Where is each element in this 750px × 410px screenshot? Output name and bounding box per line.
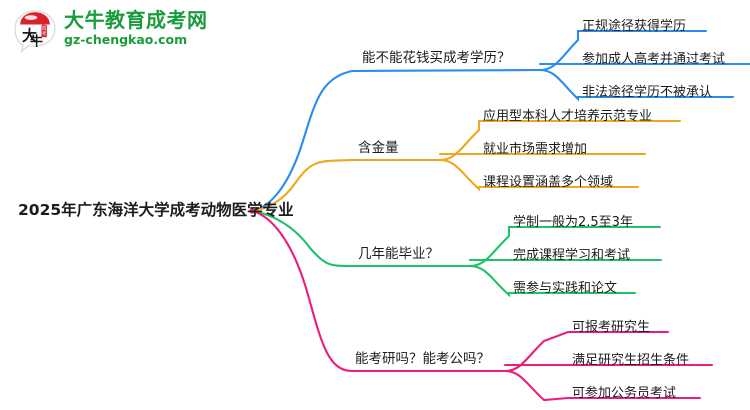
- branch-label-3[interactable]: 几年能毕业？: [358, 248, 439, 262]
- leaf-label-3-2[interactable]: 完成课程学习和考试: [513, 249, 630, 262]
- leaf-label-4-2[interactable]: 满足研究生招生条件: [572, 354, 689, 367]
- leaf-label-3-3[interactable]: 需参与实践和论文: [513, 282, 617, 295]
- leaf-label-4-3[interactable]: 可参加公务员考试: [572, 387, 676, 400]
- leaf-label-4-1[interactable]: 可报考研究生: [572, 321, 650, 334]
- leaf-label-2-2[interactable]: 就业市场需求增加: [483, 143, 587, 156]
- leaf-label-3-1[interactable]: 学制一般为2.5至3年: [513, 216, 633, 229]
- branch-label-2[interactable]: 含金量: [358, 142, 399, 156]
- leaf-label-1-2[interactable]: 参加成人高考并通过考试: [582, 53, 725, 66]
- branch-2-connector: [252, 121, 680, 211]
- leaf-label-2-3[interactable]: 课程设置涵盖多个领域: [483, 176, 613, 189]
- branch-label-1[interactable]: 能不能花钱买成考学历？: [362, 52, 511, 66]
- mindmap-canvas: 成 考 大 牛 大牛教育成考网 gz-chengkao.com: [0, 0, 750, 410]
- branch-4-connector: [252, 211, 712, 400]
- branch-label-4[interactable]: 能考研吗？能考公吗？: [355, 353, 490, 367]
- root-node-label[interactable]: 2025年广东海洋大学成考动物医学专业: [18, 203, 294, 219]
- leaf-label-2-1[interactable]: 应用型本科人才培养示范专业: [483, 110, 652, 123]
- leaf-label-1-1[interactable]: 正规途径获得学历: [582, 20, 686, 33]
- leaf-label-1-3[interactable]: 非法途径学历不被承认: [582, 86, 712, 99]
